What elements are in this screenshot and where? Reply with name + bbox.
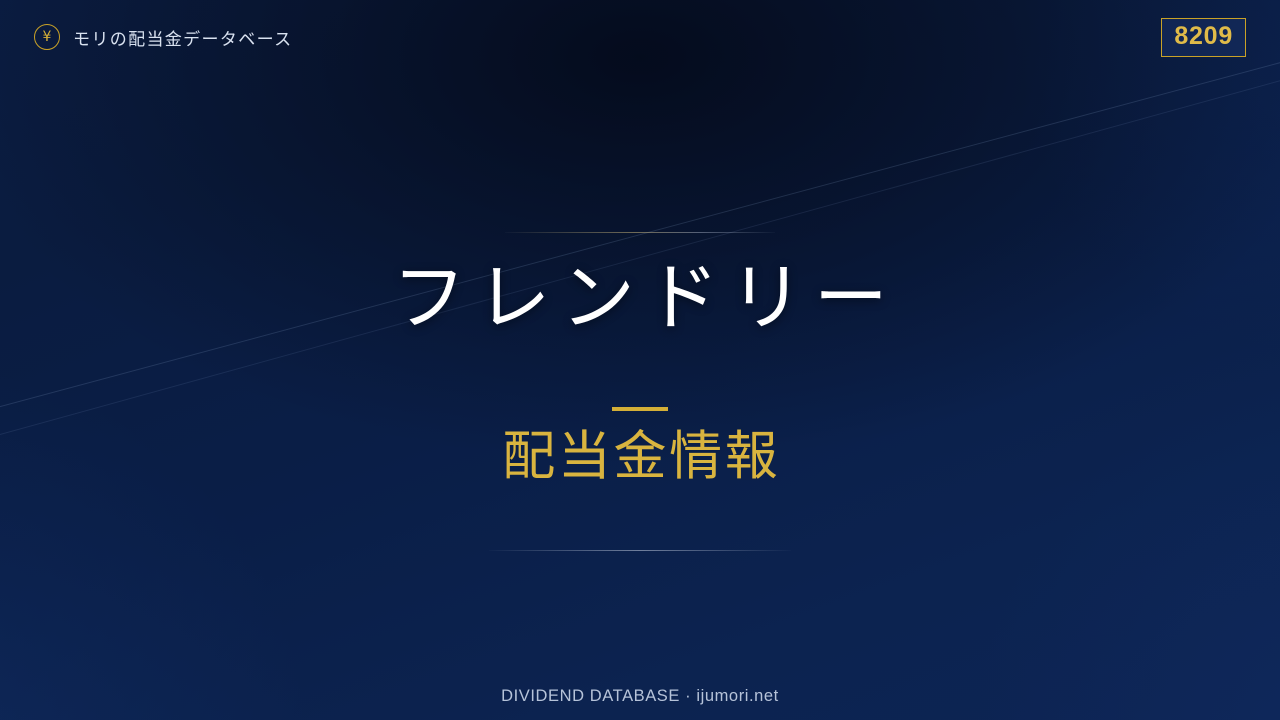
company-name-title: フレンドリー [382,261,899,335]
yen-coin-icon: ¥ [34,24,60,50]
brand-name: モリの配当金データベース [73,25,292,50]
brand[interactable]: ¥ モリの配当金データベース [34,24,292,50]
hero-block: フレンドリー 配当金情報 [0,232,1280,551]
top-divider [505,232,775,233]
title-card: ¥ モリの配当金データベース 8209 フレンドリー 配当金情報 DIVIDEN… [0,0,1280,720]
section-label: 配当金情報 [500,429,781,485]
footer-text: DIVIDEND DATABASE · ijumori.net [501,687,779,705]
yen-symbol: ¥ [43,30,52,44]
gold-accent-divider [612,407,668,411]
page-footer: DIVIDEND DATABASE · ijumori.net [0,687,1280,706]
page-header: ¥ モリの配当金データベース 8209 [0,0,1280,74]
bottom-divider [489,550,791,551]
stock-code-badge: 8209 [1161,18,1246,57]
